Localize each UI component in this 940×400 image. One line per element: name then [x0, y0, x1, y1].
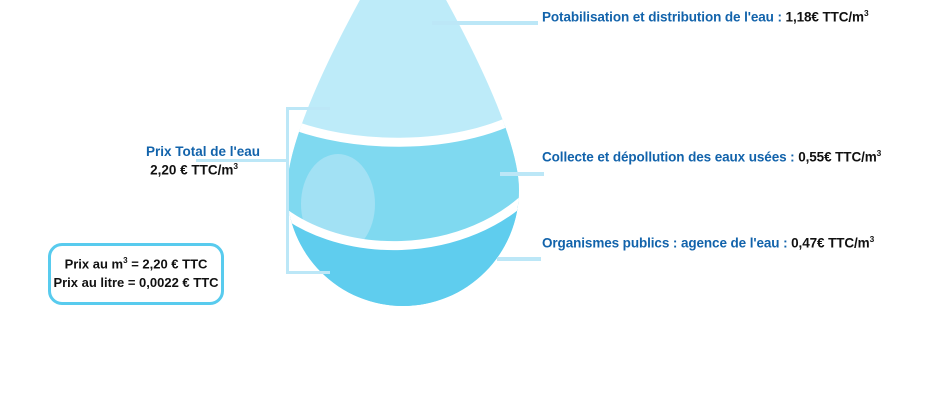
segment-3-value: 0,47€ TTC/m — [791, 236, 869, 251]
segment-1-value: 1,18€ TTC/m — [786, 10, 864, 25]
total-price-value: 2,20 € TTC/m3 — [60, 161, 260, 179]
total-bracket-vertical — [286, 107, 289, 274]
segment-2-value: 0,55€ TTC/m — [798, 150, 876, 165]
price-per-cubic-meter-line: Prix au m3 = 2,20 € TTC — [65, 255, 208, 274]
segment-2-value-exponent: 3 — [877, 148, 882, 158]
segment-1-value-exponent: 3 — [864, 8, 869, 18]
connector-line-segment-1 — [432, 21, 538, 25]
total-price-label: Prix Total de l'eau 2,20 € TTC/m3 — [60, 143, 260, 179]
connector-line-segment-3 — [497, 257, 541, 261]
total-price-value-exponent: 3 — [233, 161, 238, 171]
price-summary-box: Prix au m3 = 2,20 € TTC Prix au litre = … — [48, 243, 224, 305]
price-per-litre-line: Prix au litre = 0,0022 € TTC — [53, 274, 218, 293]
total-bracket-top-stub — [286, 107, 330, 110]
segment-3-value-exponent: 3 — [870, 234, 875, 244]
segment-2-name: Collecte et dépollution des eaux usées : — [542, 150, 798, 165]
segment-3-name: Organismes publics : agence de l'eau : — [542, 236, 791, 251]
segment-label-1: Potabilisation et distribution de l'eau … — [542, 8, 869, 25]
segment-1-name: Potabilisation et distribution de l'eau … — [542, 10, 786, 25]
total-bracket-bottom-stub — [286, 271, 330, 274]
segment-label-3: Organismes publics : agence de l'eau : 0… — [542, 234, 874, 251]
segment-label-2: Collecte et dépollution des eaux usées :… — [542, 148, 881, 165]
connector-line-segment-2 — [500, 172, 544, 176]
infographic-canvas: Potabilisation et distribution de l'eau … — [0, 0, 940, 400]
total-price-title: Prix Total de l'eau — [60, 143, 260, 161]
